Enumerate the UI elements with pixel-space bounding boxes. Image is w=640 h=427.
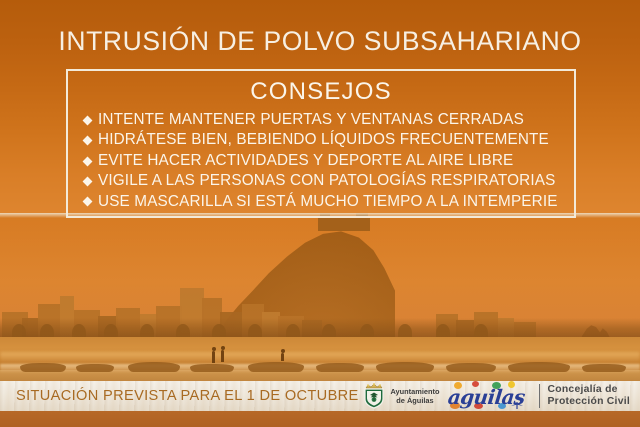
advice-item: VIGILE A LAS PERSONAS CON PATOLOGÍAS RES… bbox=[84, 171, 574, 191]
castle-silhouette bbox=[318, 216, 370, 231]
concejalia-line2: Protección Civil bbox=[547, 396, 630, 408]
footer-bar: SITUACIÓN PREVISTA PARA EL 1 DE OCTUBRE bbox=[0, 381, 640, 411]
ayuntamiento-coat-of-arms-icon bbox=[363, 383, 385, 409]
advice-item-label: INTENTE MANTENER PUERTAS Y VENTANAS CERR… bbox=[98, 110, 524, 130]
aguilas-brand-logo: aguilas bbox=[448, 382, 532, 410]
advice-item: INTENTE MANTENER PUERTAS Y VENTANAS CERR… bbox=[84, 110, 574, 130]
diamond-bullet-icon bbox=[83, 197, 93, 207]
page-title: INTRUSIÓN DE POLVO SUBSAHARIANO bbox=[0, 26, 640, 57]
poster-canvas: INTRUSIÓN DE POLVO SUBSAHARIANO CONSEJOS… bbox=[0, 0, 640, 427]
advice-item-label: VIGILE A LAS PERSONAS CON PATOLOGÍAS RES… bbox=[98, 171, 556, 191]
advice-item-label: USE MASCARILLA SI ESTÁ MUCHO TIEMPO A LA… bbox=[98, 192, 558, 212]
person-on-beach bbox=[221, 350, 224, 362]
diamond-bullet-icon bbox=[83, 136, 93, 146]
rock bbox=[128, 362, 180, 372]
advice-item: EVITE HACER ACTIVIDADES Y DEPORTE AL AIR… bbox=[84, 151, 574, 171]
concejalia-label: Concejalía de Protección Civil bbox=[547, 384, 630, 409]
advice-item: USE MASCARILLA SI ESTÁ MUCHO TIEMPO A LA… bbox=[84, 192, 574, 212]
rock bbox=[316, 363, 364, 372]
advice-heading: CONSEJOS bbox=[68, 77, 574, 107]
rock bbox=[20, 363, 66, 372]
person-on-beach bbox=[212, 351, 215, 363]
rock bbox=[446, 363, 496, 372]
advice-item-label: HIDRÁTESE BIEN, BEBIENDO LÍQUIDOS FRECUE… bbox=[98, 130, 549, 150]
logo-divider bbox=[539, 384, 540, 408]
advice-box: CONSEJOS INTENTE MANTENER PUERTAS Y VENT… bbox=[66, 69, 576, 218]
ayuntamiento-label: Ayuntamiento de Águilas bbox=[390, 387, 439, 405]
advice-item-label: EVITE HACER ACTIVIDADES Y DEPORTE AL AIR… bbox=[98, 151, 513, 171]
rock bbox=[76, 364, 114, 372]
rock bbox=[582, 364, 626, 372]
diamond-bullet-icon bbox=[83, 176, 93, 186]
diamond-bullet-icon bbox=[83, 115, 93, 125]
ayuntamiento-line2: de Águilas bbox=[390, 396, 439, 405]
rock bbox=[248, 362, 304, 372]
concejalia-line1: Concejalía de bbox=[547, 384, 630, 396]
ayuntamiento-line1: Ayuntamiento bbox=[390, 387, 439, 396]
rock bbox=[508, 362, 570, 372]
forecast-status-text: SITUACIÓN PREVISTA PARA EL 1 DE OCTUBRE bbox=[16, 388, 359, 404]
aguilas-bird-icon bbox=[510, 397, 524, 410]
diamond-bullet-icon bbox=[83, 156, 93, 166]
advice-item: HIDRÁTESE BIEN, BEBIENDO LÍQUIDOS FRECUE… bbox=[84, 130, 574, 150]
advice-list: INTENTE MANTENER PUERTAS Y VENTANAS CERR… bbox=[68, 110, 574, 212]
rock bbox=[376, 362, 434, 372]
footer-logos: Ayuntamiento de Águilas aguilas bbox=[363, 381, 640, 411]
person-on-beach bbox=[281, 353, 284, 361]
breakwater-rocks bbox=[0, 358, 640, 372]
rock bbox=[190, 364, 234, 372]
